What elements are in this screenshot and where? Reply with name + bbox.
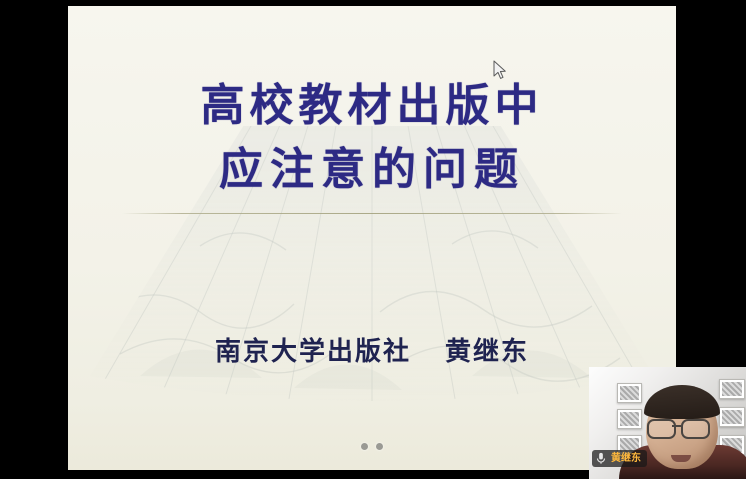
participant-name-label: 黄继东 [611,454,641,464]
letterbox-left [0,0,68,479]
slide-dot-2[interactable] [376,443,383,450]
wall-picture-frame [719,407,745,427]
wall-picture-frame [719,379,745,399]
slide-dot-1[interactable] [361,443,368,450]
slide-title: 高校教材出版中 应注意的问题 [68,74,676,202]
participant-video-tile[interactable]: 黄继东 [589,367,746,479]
slide-title-line-2: 应注意的问题 [68,138,676,202]
eyeglasses-left-lens [647,419,676,439]
wall-picture-frame [617,409,642,429]
slide-title-line-1: 高校教材出版中 [68,74,676,138]
eyeglasses-bridge [672,425,681,427]
participant-name-badge: 黄继东 [592,450,647,467]
byline-presenter: 黄继东 [445,337,529,367]
eyeglasses-right-lens [681,419,710,439]
slide-byline: 南京大学出版社黄继东 [68,331,676,368]
microphone-icon[interactable] [595,452,607,465]
title-divider-rule [122,213,622,214]
byline-organization: 南京大学出版社 [215,337,411,367]
slide-page-dots[interactable] [68,443,676,450]
meeting-screen: 高校教材出版中 应注意的问题 南京大学出版社黄继东 [0,0,746,479]
wall-picture-frame [617,383,642,403]
shared-slide[interactable]: 高校教材出版中 应注意的问题 南京大学出版社黄继东 [68,6,676,470]
